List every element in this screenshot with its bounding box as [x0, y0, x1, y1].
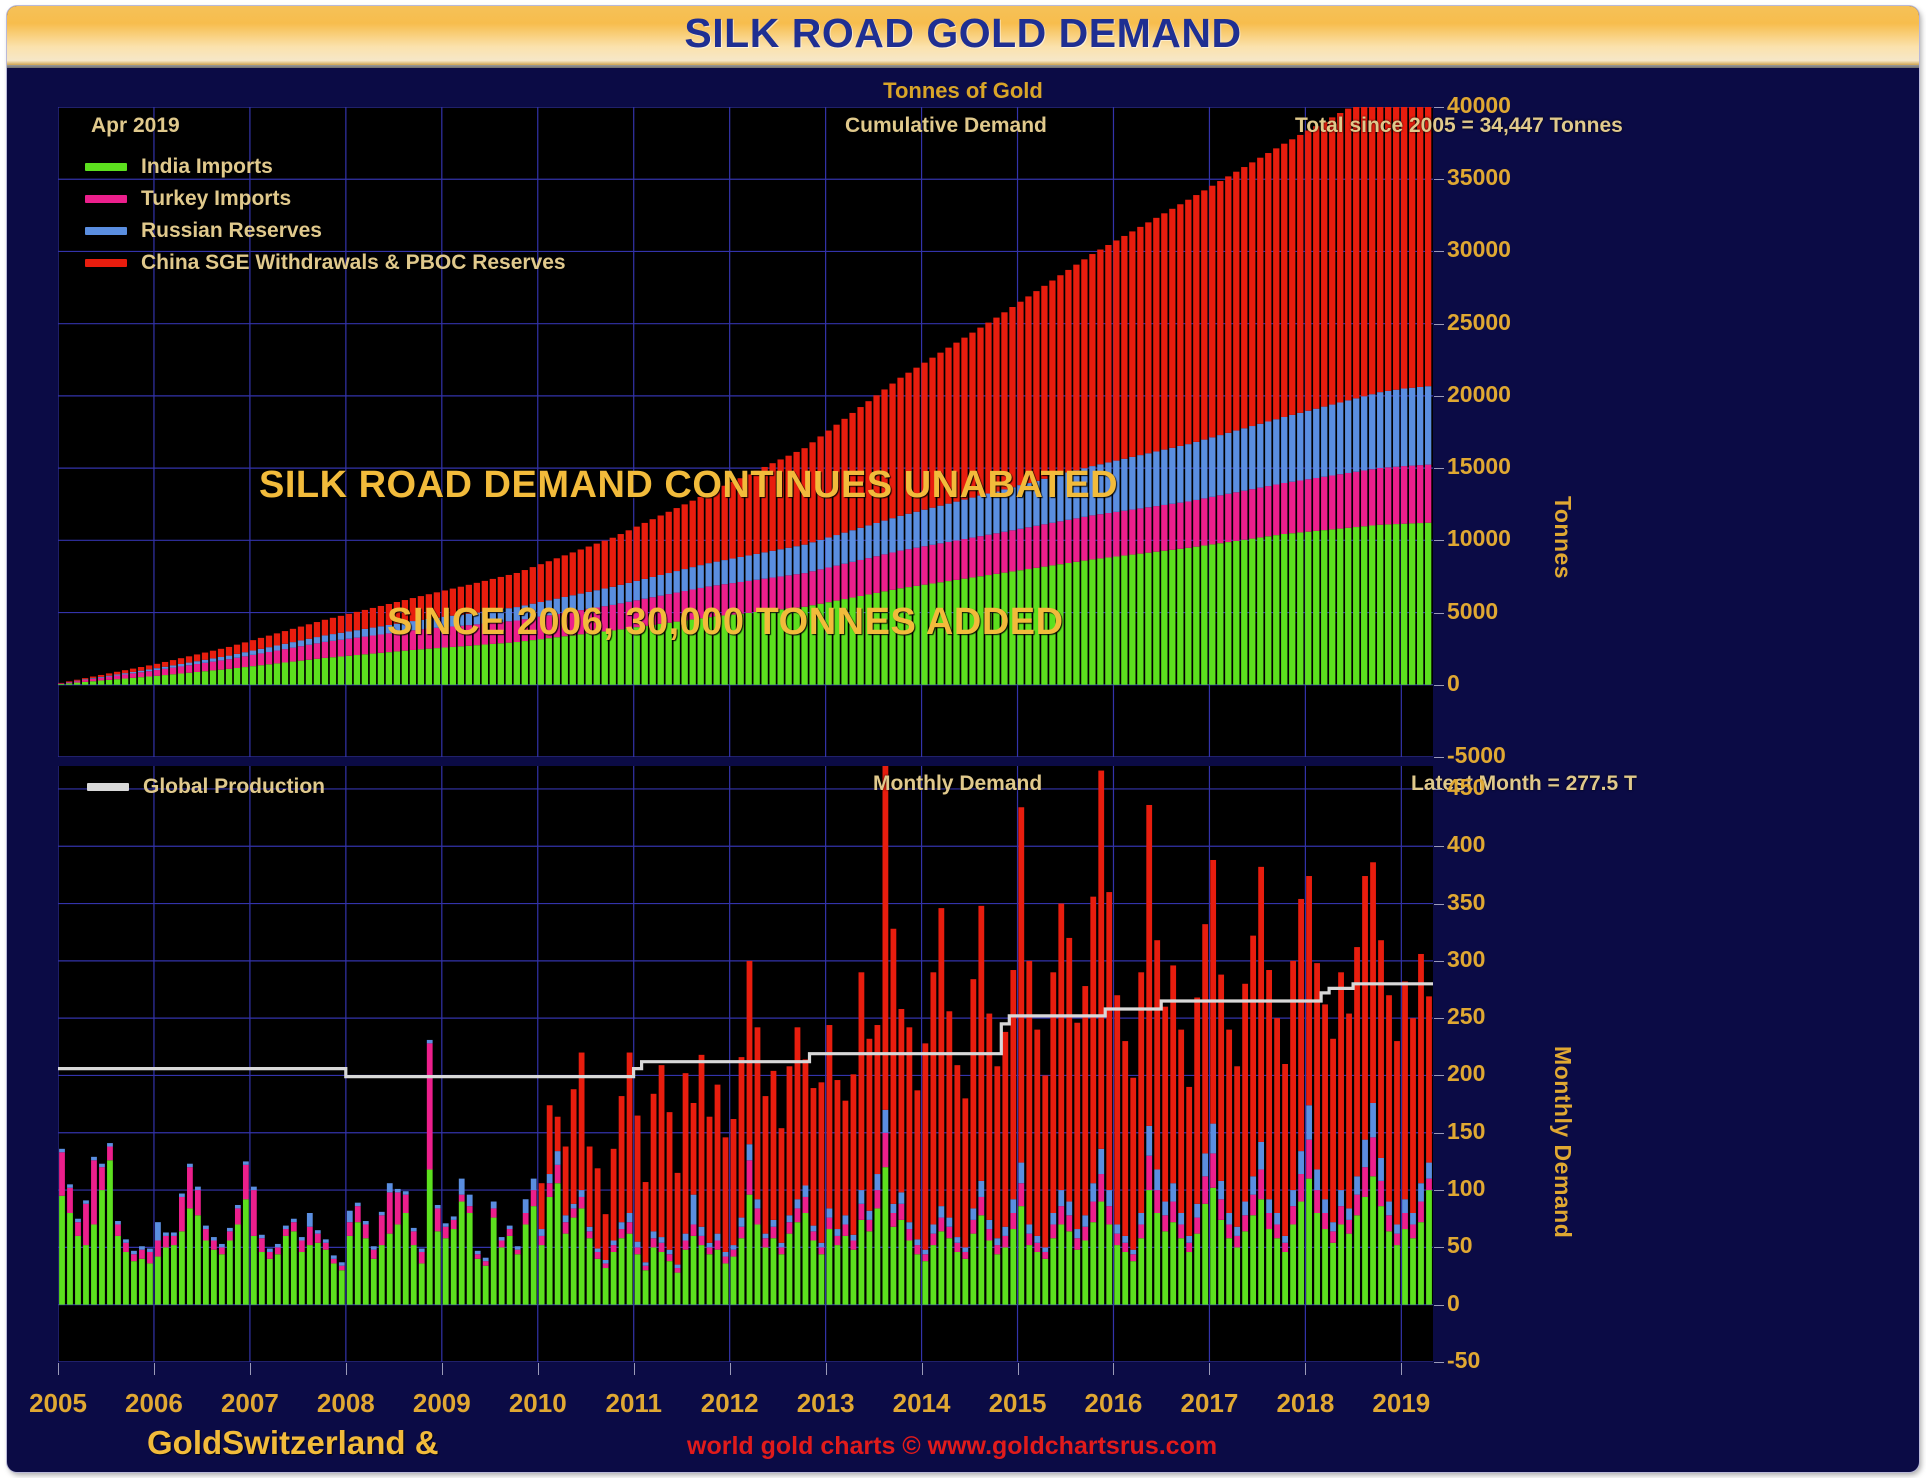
y-tick-monthly-100: 100 [1447, 1175, 1485, 1202]
y-tick-mark [1434, 613, 1444, 614]
monthly-stacked-bars [58, 766, 1433, 1362]
y-tick-monthly-300: 300 [1447, 946, 1485, 973]
x-tick-label-2008: 2008 [317, 1388, 375, 1419]
chart-subtitle: Tonnes of Gold [7, 78, 1919, 104]
x-tick-mark [58, 1363, 59, 1375]
legend-item-india[interactable]: India Imports [85, 151, 566, 183]
y-tick-mark [1434, 789, 1444, 790]
monthly-demand-panel [58, 766, 1433, 1362]
y-axis-title-monthly-demand: Monthly Demand [1549, 1046, 1576, 1238]
y-tick-monthly-400: 400 [1447, 831, 1485, 858]
x-tick-mark [1018, 1363, 1019, 1375]
page-title: SILK ROAD GOLD DEMAND [7, 10, 1919, 57]
x-tick-mark [922, 1363, 923, 1375]
y-tick-monthly-0: 0 [1447, 1290, 1460, 1317]
y-tick-mark [1434, 1018, 1444, 1019]
y-tick-mark [1434, 324, 1444, 325]
y-tick-mark [1434, 685, 1444, 686]
y-tick-monthly-200: 200 [1447, 1060, 1485, 1087]
x-tick-label-2011: 2011 [606, 1388, 662, 1419]
x-tick-mark [1113, 1363, 1114, 1375]
y-tick-mark [1434, 468, 1444, 469]
russia-color-swatch [85, 227, 127, 235]
y-tick-mark [1434, 251, 1444, 252]
y-tick-tonnes-30000: 30000 [1447, 236, 1511, 263]
x-tick-label-2017: 2017 [1181, 1388, 1239, 1419]
footer-brand: GoldSwitzerland & [147, 1424, 439, 1462]
annotation-tonnes-added: SINCE 2006, 30,000 TONNES ADDED [387, 601, 1064, 644]
y-tick-mark [1434, 1190, 1444, 1191]
x-tick-label-2013: 2013 [797, 1388, 855, 1419]
x-tick-mark [1209, 1363, 1210, 1375]
series-legend: India Imports Turkey Imports Russian Res… [85, 151, 566, 279]
legend-label-russia: Russian Reserves [141, 219, 322, 243]
x-tick-mark [634, 1363, 635, 1375]
global-production-color-swatch [87, 783, 129, 791]
y-tick-monthly-150: 150 [1447, 1118, 1485, 1145]
y-tick-tonnes-20000: 20000 [1447, 381, 1511, 408]
y-tick-tonnes-40000: 40000 [1447, 92, 1511, 119]
latest-month-label: Latest Month = 277.5 T [1411, 772, 1637, 796]
y-tick-mark [1434, 1075, 1444, 1076]
y-tick-mark [1434, 846, 1444, 847]
x-tick-mark [730, 1363, 731, 1375]
legend-item-turkey[interactable]: Turkey Imports [85, 183, 566, 215]
y-tick-monthly-450: 450 [1447, 774, 1485, 801]
y-tick-tonnes-15000: 15000 [1447, 453, 1511, 480]
y-tick-mark [1434, 1305, 1444, 1306]
x-tick-mark [826, 1363, 827, 1375]
chart-root: SILK ROAD GOLD DEMAND Tonnes of Gold Apr… [0, 0, 1926, 1478]
y-tick-tonnes-neg5000: -5000 [1447, 742, 1506, 769]
x-tick-label-2016: 2016 [1085, 1388, 1143, 1419]
chart-frame: SILK ROAD GOLD DEMAND Tonnes of Gold Apr… [7, 6, 1919, 1472]
y-tick-mark [1434, 107, 1444, 108]
x-tick-label-2015: 2015 [989, 1388, 1047, 1419]
x-tick-label-2018: 2018 [1276, 1388, 1334, 1419]
y-tick-mark [1434, 540, 1444, 541]
annotation-unabated: SILK ROAD DEMAND CONTINUES UNABATED [259, 464, 1118, 507]
x-tick-label-2019: 2019 [1372, 1388, 1430, 1419]
x-tick-label-2005: 2005 [29, 1388, 87, 1419]
date-label: Apr 2019 [91, 114, 180, 138]
legend-item-global-production[interactable]: Global Production [87, 771, 325, 803]
x-tick-label-2014: 2014 [893, 1388, 951, 1419]
y-tick-monthly-50: 50 [1447, 1232, 1473, 1259]
y-tick-mark [1434, 757, 1444, 758]
legend-label-global-production: Global Production [143, 775, 325, 799]
x-tick-mark [442, 1363, 443, 1375]
x-tick-mark [250, 1363, 251, 1375]
y-axis-title-tonnes: Tonnes [1549, 496, 1576, 579]
x-tick-label-2007: 2007 [221, 1388, 279, 1419]
x-tick-mark [538, 1363, 539, 1375]
y-tick-tonnes-35000: 35000 [1447, 164, 1511, 191]
y-tick-mark [1434, 961, 1444, 962]
x-tick-mark [346, 1363, 347, 1375]
china-color-swatch [85, 259, 127, 267]
legend-item-russia[interactable]: Russian Reserves [85, 215, 566, 247]
legend-label-turkey: Turkey Imports [141, 187, 291, 211]
x-tick-label-2010: 2010 [509, 1388, 567, 1419]
y-tick-mark [1434, 1247, 1444, 1248]
title-bar: SILK ROAD GOLD DEMAND [7, 6, 1919, 68]
legend-label-china: China SGE Withdrawals & PBOC Reserves [141, 251, 566, 275]
x-tick-mark [1401, 1363, 1402, 1375]
y-tick-mark [1434, 396, 1444, 397]
x-tick-label-2012: 2012 [701, 1388, 759, 1419]
cumulative-demand-label: Cumulative Demand [845, 114, 1047, 138]
y-tick-mark [1434, 1362, 1444, 1363]
x-tick-mark [1305, 1363, 1306, 1375]
x-tick-label-2006: 2006 [125, 1388, 183, 1419]
footer-credit: world gold charts © www.goldchartsrus.co… [687, 1432, 1217, 1461]
y-tick-tonnes-0: 0 [1447, 670, 1460, 697]
y-tick-monthly-350: 350 [1447, 889, 1485, 916]
y-tick-tonnes-25000: 25000 [1447, 309, 1511, 336]
y-tick-monthly-neg50: -50 [1447, 1347, 1480, 1374]
turkey-color-swatch [85, 195, 127, 203]
y-tick-mark [1434, 904, 1444, 905]
y-tick-tonnes-5000: 5000 [1447, 598, 1498, 625]
x-tick-mark [154, 1363, 155, 1375]
y-tick-tonnes-10000: 10000 [1447, 525, 1511, 552]
x-tick-label-2009: 2009 [413, 1388, 471, 1419]
monthly-demand-label: Monthly Demand [873, 772, 1042, 796]
y-tick-monthly-250: 250 [1447, 1003, 1485, 1030]
india-color-swatch [85, 163, 127, 171]
legend-item-china[interactable]: China SGE Withdrawals & PBOC Reserves [85, 247, 566, 279]
legend-label-india: India Imports [141, 155, 273, 179]
y-tick-mark [1434, 179, 1444, 180]
y-tick-mark [1434, 1133, 1444, 1134]
